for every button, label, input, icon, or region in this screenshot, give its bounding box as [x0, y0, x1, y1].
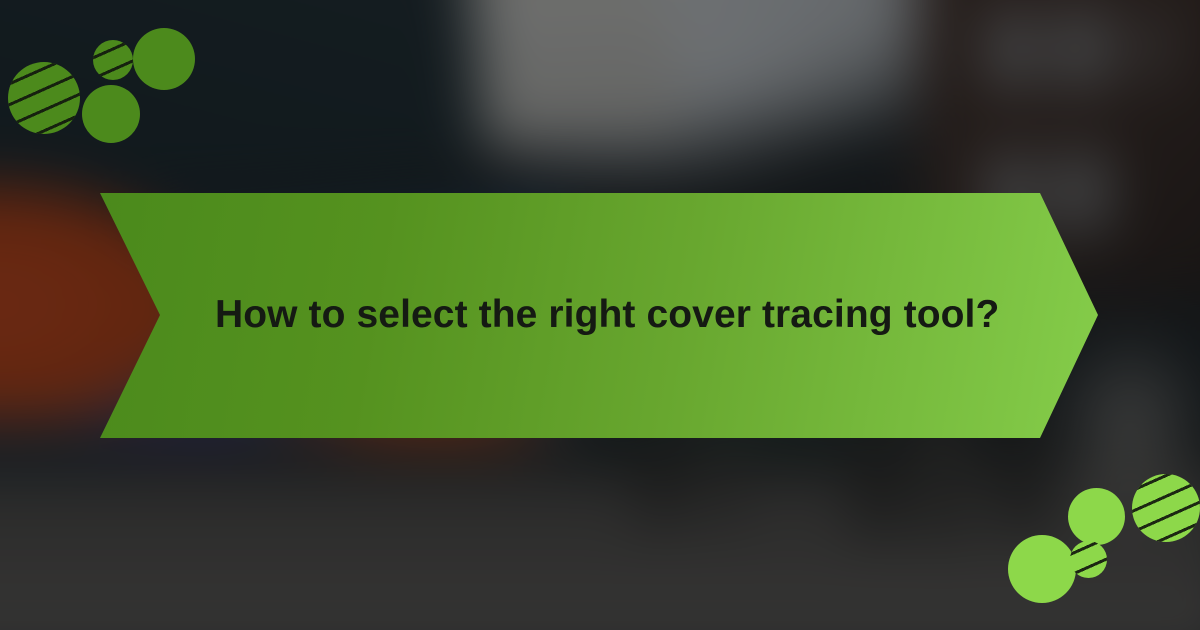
- page-title: How to select the right cover tracing to…: [215, 292, 999, 339]
- decoration-cluster-top-left: [0, 0, 260, 180]
- circle-striped-small-icon: [1070, 541, 1107, 578]
- circle-striped-large-icon: [8, 62, 80, 134]
- circle-plain-large-icon: [133, 28, 195, 90]
- circle-plain-medium-icon: [82, 85, 140, 143]
- social-card: How to select the right cover tracing to…: [0, 0, 1200, 630]
- circle-striped-large-icon: [1132, 474, 1200, 542]
- circle-plain-medium-icon: [1008, 535, 1076, 603]
- circle-plain-large-icon: [1068, 488, 1125, 545]
- circle-striped-small-icon: [93, 40, 133, 80]
- headline-banner: How to select the right cover tracing to…: [100, 193, 1098, 438]
- decoration-cluster-bottom-right: [940, 450, 1200, 630]
